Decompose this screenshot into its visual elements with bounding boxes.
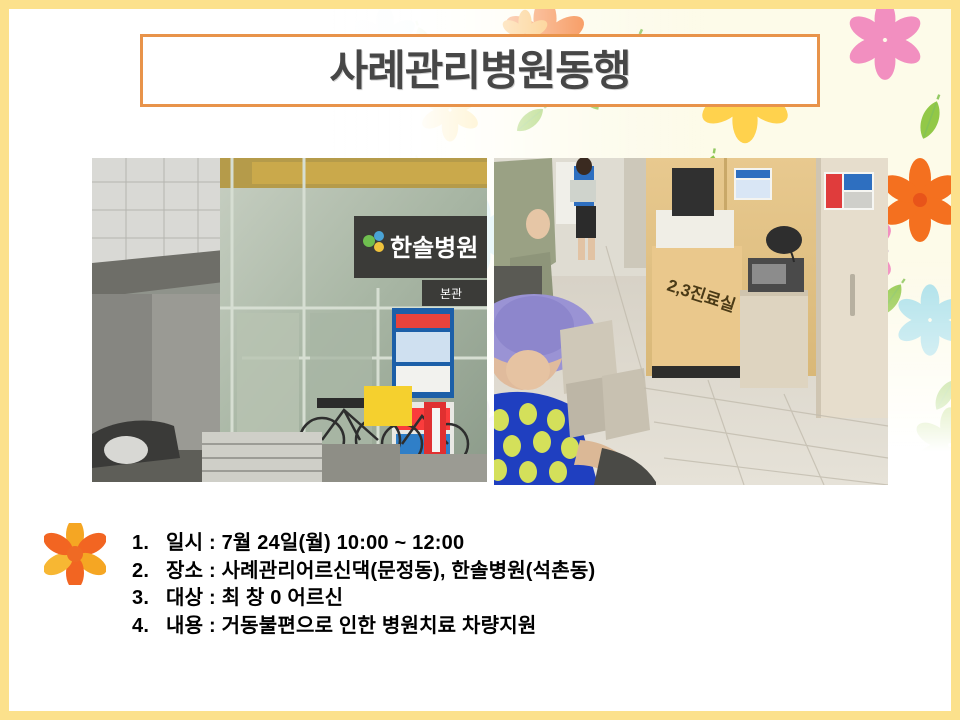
hospital-entrance-photo-graphic: 한솔병원 본관 xyxy=(92,158,487,482)
page-title: 사례관리병원동행 xyxy=(329,50,630,92)
flower-icon xyxy=(44,523,106,585)
list-item-number: 3. xyxy=(132,586,166,611)
hospital-waiting-area-photo: 2,3진료실 xyxy=(494,158,888,485)
list-item: 1. 일시 : 7월 24일(월) 10:00 ~ 12:00 xyxy=(132,531,832,556)
list-item: 4. 내용 : 거동불편으로 인한 병원치료 차량지원 xyxy=(132,614,832,639)
svg-text:본관: 본관 xyxy=(440,287,462,301)
border-top xyxy=(0,0,960,9)
list-item-number: 2. xyxy=(132,559,166,584)
border-right xyxy=(951,0,960,720)
list-item-text: 일시 : 7월 24일(월) 10:00 ~ 12:00 xyxy=(166,531,832,556)
list-item-text: 장소 : 사례관리어르신댁(문정동), 한솔병원(석촌동) xyxy=(166,559,832,584)
list-item-number: 4. xyxy=(132,614,166,639)
list-item-text: 대상 : 최 창 0 어르신 xyxy=(166,586,832,611)
list-item: 3. 대상 : 최 창 0 어르신 xyxy=(132,586,832,611)
list-item-text: 내용 : 거동불편으로 인한 병원치료 차량지원 xyxy=(166,614,832,639)
slide-canvas: 사례관리병원동행 xyxy=(0,0,960,720)
list-item: 2. 장소 : 사례관리어르신댁(문정동), 한솔병원(석촌동) xyxy=(132,559,832,584)
svg-text:한솔병원: 한솔병원 xyxy=(390,235,478,262)
slide-title-box: 사례관리병원동행 xyxy=(140,34,820,107)
list-item-number: 1. xyxy=(132,531,166,556)
detail-list: 1. 일시 : 7월 24일(월) 10:00 ~ 12:00 2. 장소 : … xyxy=(132,531,832,641)
border-bottom xyxy=(0,711,960,720)
border-left xyxy=(0,0,9,720)
hospital-entrance-photo: 한솔병원 본관 xyxy=(92,158,487,482)
hospital-waiting-area-photo-graphic: 2,3진료실 xyxy=(494,158,888,485)
